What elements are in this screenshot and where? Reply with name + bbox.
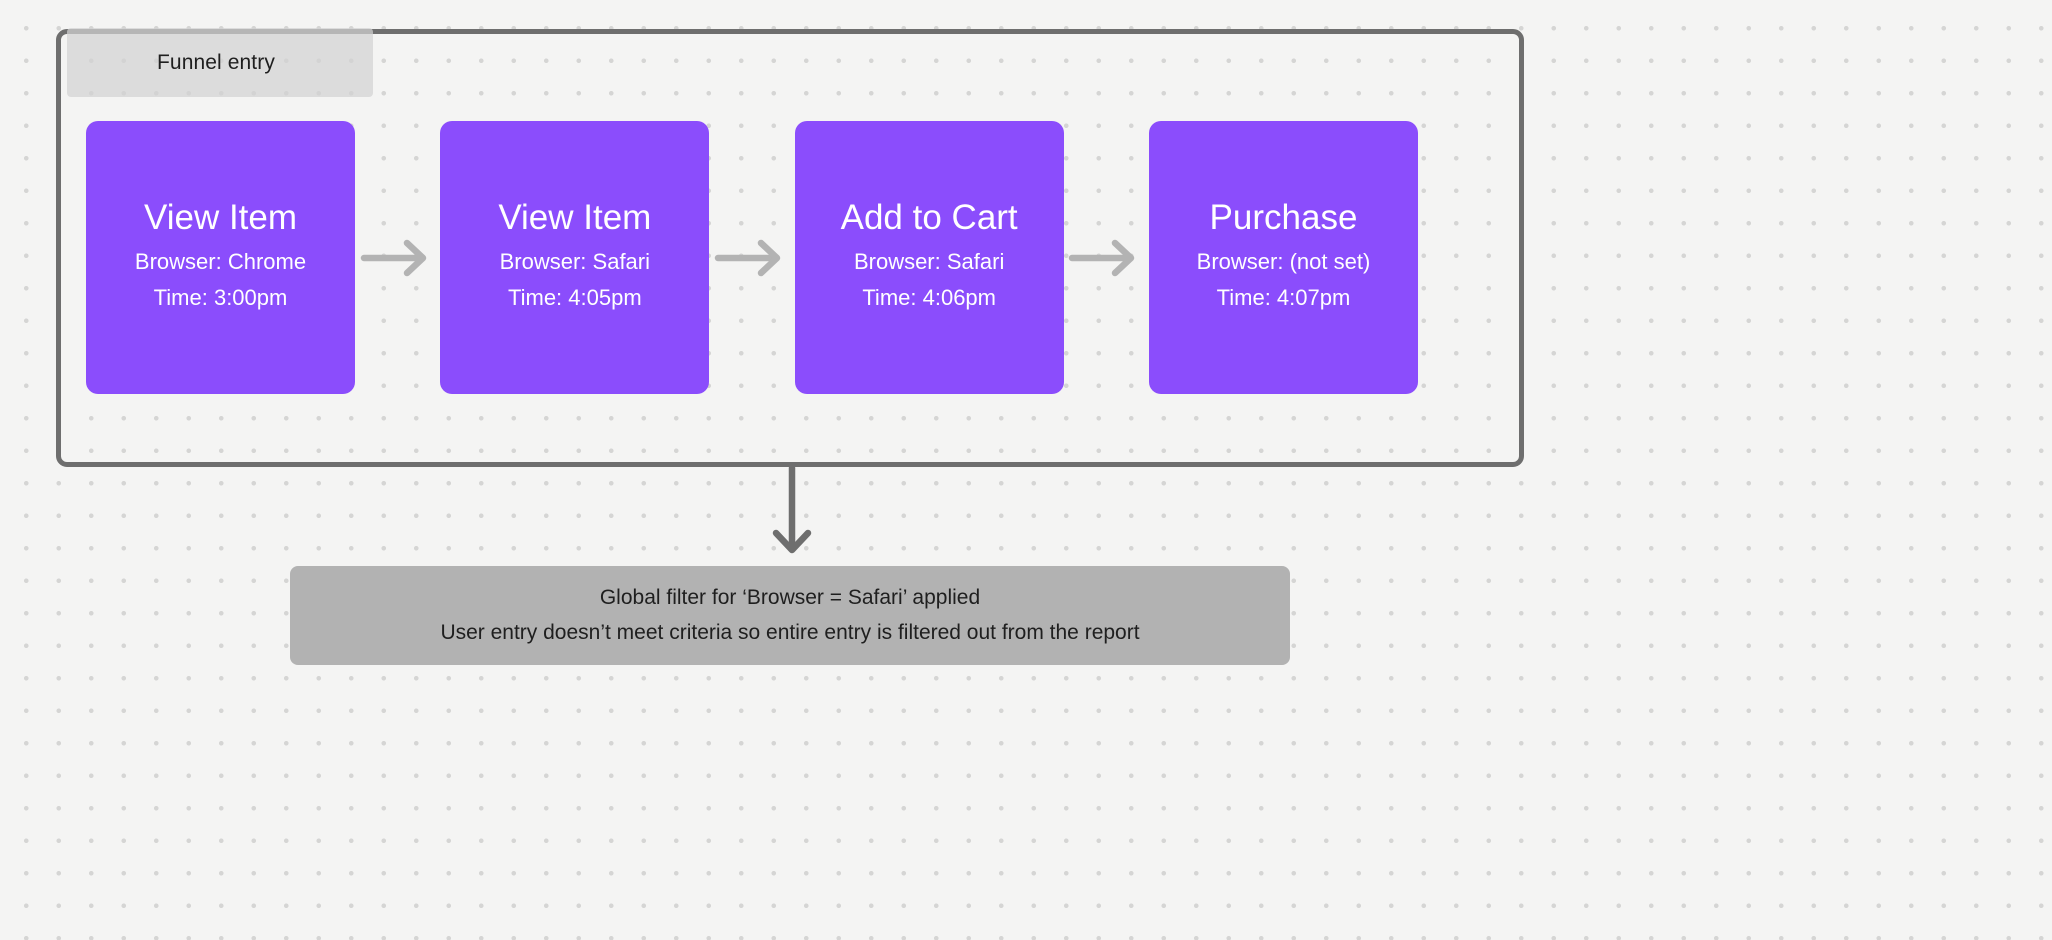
step-browser: Browser: Safari [854, 244, 1004, 280]
filter-annotation-line-2: User entry doesn’t meet criteria so enti… [440, 616, 1139, 650]
step-browser: Browser: Chrome [135, 244, 306, 280]
arrow-down-icon [764, 466, 820, 562]
funnel-step-card-3[interactable]: Add to Cart Browser: Safari Time: 4:06pm [795, 121, 1064, 394]
funnel-step-card-1[interactable]: View Item Browser: Chrome Time: 3:00pm [86, 121, 355, 394]
step-title: View Item [144, 199, 297, 237]
arrow-right-icon-2 [709, 121, 794, 394]
filter-annotation-line-1: Global filter for ‘Browser = Safari’ app… [600, 581, 980, 615]
funnel-steps-row: View Item Browser: Chrome Time: 3:00pm V… [86, 121, 1418, 394]
step-title: View Item [498, 199, 651, 237]
funnel-step-card-4[interactable]: Purchase Browser: (not set) Time: 4:07pm [1149, 121, 1418, 394]
funnel-entry-label-text: Funnel entry [157, 51, 275, 75]
funnel-entry-label: Funnel entry [67, 28, 373, 97]
step-time: Time: 3:00pm [154, 280, 288, 316]
step-title: Purchase [1210, 199, 1358, 237]
filter-annotation-callout: Global filter for ‘Browser = Safari’ app… [290, 566, 1290, 665]
step-browser: Browser: Safari [500, 244, 650, 280]
step-time: Time: 4:05pm [508, 280, 642, 316]
funnel-step-card-2[interactable]: View Item Browser: Safari Time: 4:05pm [440, 121, 709, 394]
step-time: Time: 4:07pm [1217, 280, 1351, 316]
step-browser: Browser: (not set) [1197, 244, 1371, 280]
step-time: Time: 4:06pm [862, 280, 996, 316]
arrow-right-icon-3 [1064, 121, 1149, 394]
step-title: Add to Cart [841, 199, 1018, 237]
arrow-right-icon-1 [355, 121, 440, 394]
